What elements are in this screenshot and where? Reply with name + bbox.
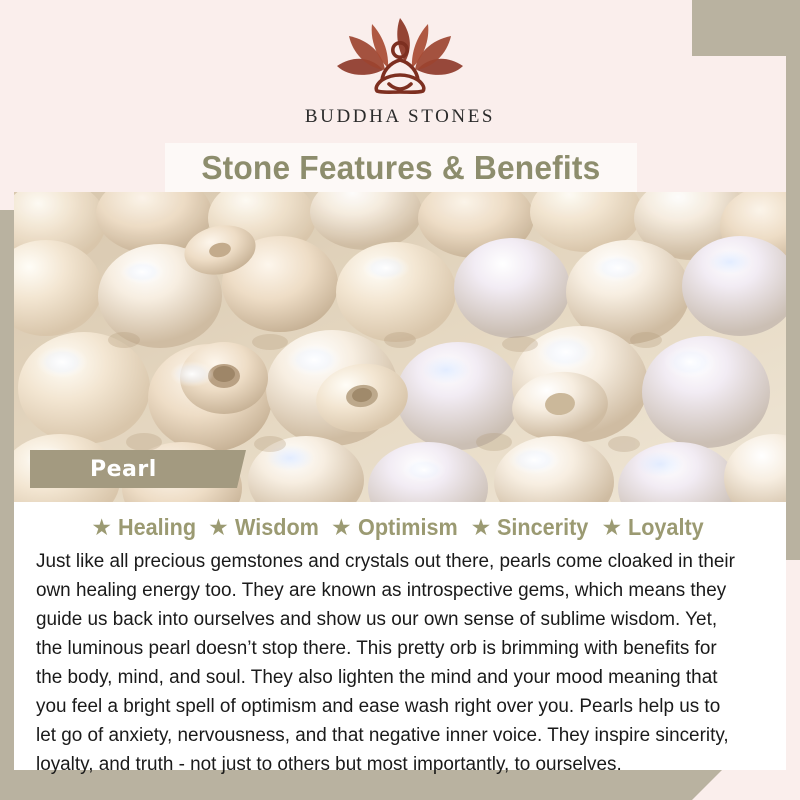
stone-description: Just like all precious gemstones and cry… — [36, 547, 739, 779]
star-icon: ★ — [601, 516, 622, 539]
frame-accent-left — [0, 210, 14, 800]
lotus-meditation-figure-icon — [325, 14, 475, 100]
benefit-item: ★ Optimism — [331, 514, 464, 541]
benefit-item: ★ Healing — [91, 514, 201, 541]
benefit-label: Sincerity — [497, 514, 588, 541]
page-title: Stone Features & Benefits — [201, 149, 600, 187]
benefit-label: Wisdom — [235, 514, 319, 541]
infographic-page: BUDDHA STONES Stone Features & Benefits — [0, 0, 800, 800]
title-banner: Stone Features & Benefits — [165, 143, 637, 193]
content-panel: ★ Healing ★ Wisdom ★ Optimism ★ Sincerit… — [14, 502, 786, 770]
benefit-label: Healing — [118, 514, 196, 541]
star-icon: ★ — [471, 516, 492, 539]
benefit-item: ★ Wisdom — [208, 514, 324, 541]
star-icon: ★ — [91, 516, 112, 539]
benefit-label: Optimism — [358, 514, 458, 541]
brand-logo: BUDDHA STONES — [0, 14, 800, 128]
stone-name: Pearl — [90, 457, 157, 482]
star-icon: ★ — [208, 516, 229, 539]
benefit-item: ★ Sincerity — [471, 514, 595, 541]
stone-name-badge: Pearl — [30, 450, 246, 488]
star-icon: ★ — [331, 516, 352, 539]
benefit-item: ★ Loyalty — [601, 514, 708, 541]
benefits-list: ★ Healing ★ Wisdom ★ Optimism ★ Sincerit… — [14, 514, 786, 541]
brand-name: BUDDHA STONES — [0, 106, 800, 128]
benefit-label: Loyalty — [628, 514, 704, 541]
